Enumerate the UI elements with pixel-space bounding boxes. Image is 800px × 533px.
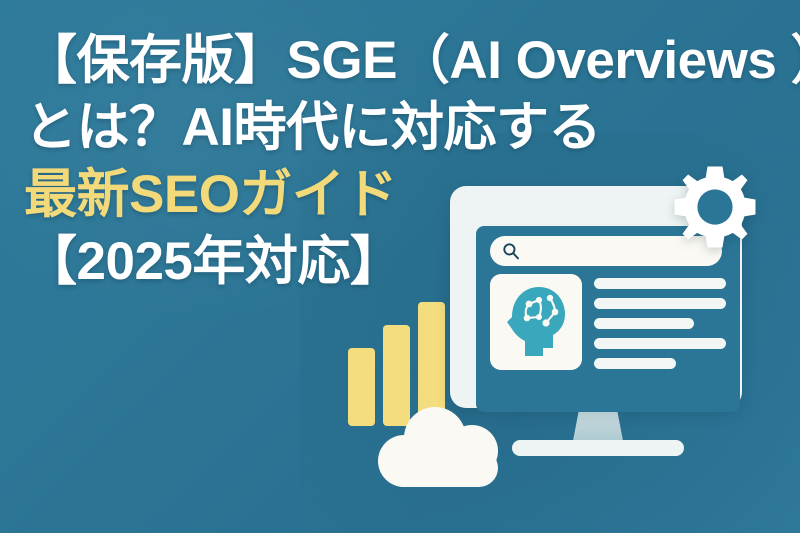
cloud-base <box>384 449 498 487</box>
ai-brain-card <box>490 274 582 370</box>
result-line-4 <box>594 338 726 349</box>
search-result-lines <box>594 278 726 378</box>
title-line-3-highlight: 最新SEOガイド <box>24 168 784 221</box>
result-line-5 <box>594 358 676 369</box>
title-line-1: 【保存版】SGE（AI Overviews ） <box>24 34 784 87</box>
title-line-4: 【2025年対応】 <box>24 235 784 288</box>
result-line-3 <box>594 318 694 329</box>
chart-bar-1 <box>348 348 375 426</box>
result-line-2 <box>594 298 726 309</box>
title-line-2: とは？AI時代に対応する <box>24 101 784 154</box>
monitor-base <box>512 440 684 456</box>
cloud-shape <box>378 405 506 477</box>
thumbnail-canvas: 【保存版】SGE（AI Overviews ） とは？AI時代に対応する 最新S… <box>0 0 800 533</box>
title-block: 【保存版】SGE（AI Overviews ） とは？AI時代に対応する 最新S… <box>24 34 784 288</box>
brain-head-icon <box>503 284 569 360</box>
